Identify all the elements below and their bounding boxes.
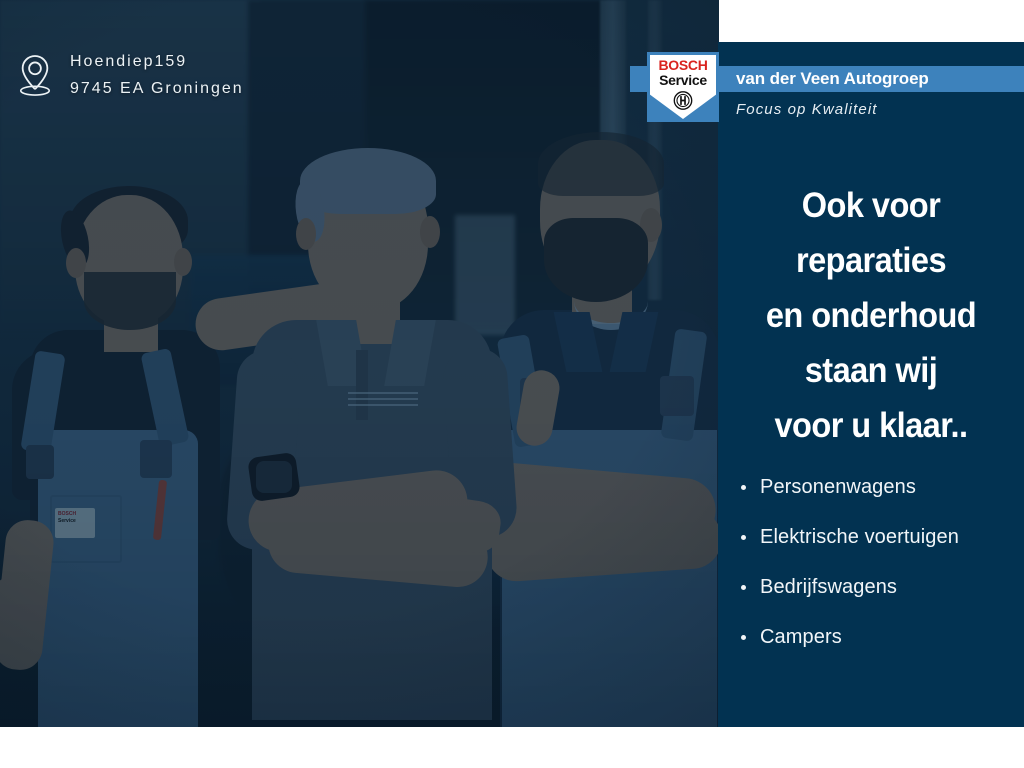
brand-tagline: Focus op Kwaliteit bbox=[736, 100, 1024, 120]
list-item: Personenwagens bbox=[738, 475, 1024, 499]
address-city: 9745 EA Groningen bbox=[70, 75, 244, 102]
address-block: Hoendiep159 9745 EA Groningen bbox=[16, 48, 244, 102]
mechanics-photo: BOSCHService bbox=[0, 0, 719, 727]
headline: Ook voor reparaties en onderhoud staan w… bbox=[729, 178, 1014, 453]
advertisement-banner: BOSCHService bbox=[0, 0, 1024, 768]
list-item: Elektrische voertuigen bbox=[738, 525, 1024, 549]
bosch-service-label: Service bbox=[650, 73, 716, 88]
list-item: Bedrijfswagens bbox=[738, 575, 1024, 599]
headline-line-5: voor u klaar.. bbox=[729, 398, 1014, 453]
service-list: Personenwagens Elektrische voertuigen Be… bbox=[738, 475, 1024, 675]
list-item: Campers bbox=[738, 625, 1024, 649]
bosch-armature-icon bbox=[674, 91, 693, 110]
headline-line-2: reparaties bbox=[729, 233, 1014, 288]
headline-line-3: en onderhoud bbox=[729, 288, 1014, 343]
map-pin-icon bbox=[16, 52, 54, 98]
address-text: Hoendiep159 9745 EA Groningen bbox=[70, 48, 244, 102]
bosch-shield: BOSCH Service bbox=[650, 55, 716, 119]
bosch-service-logo[interactable]: BOSCH Service bbox=[647, 52, 719, 122]
bosch-wordmark: BOSCH bbox=[650, 58, 716, 73]
address-street: Hoendiep159 bbox=[70, 48, 244, 75]
photo-vignette bbox=[0, 0, 719, 727]
brand-name: van der Veen Autogroep bbox=[736, 64, 1024, 94]
headline-line-4: staan wij bbox=[729, 343, 1014, 398]
headline-line-1: Ook voor bbox=[729, 178, 1014, 233]
